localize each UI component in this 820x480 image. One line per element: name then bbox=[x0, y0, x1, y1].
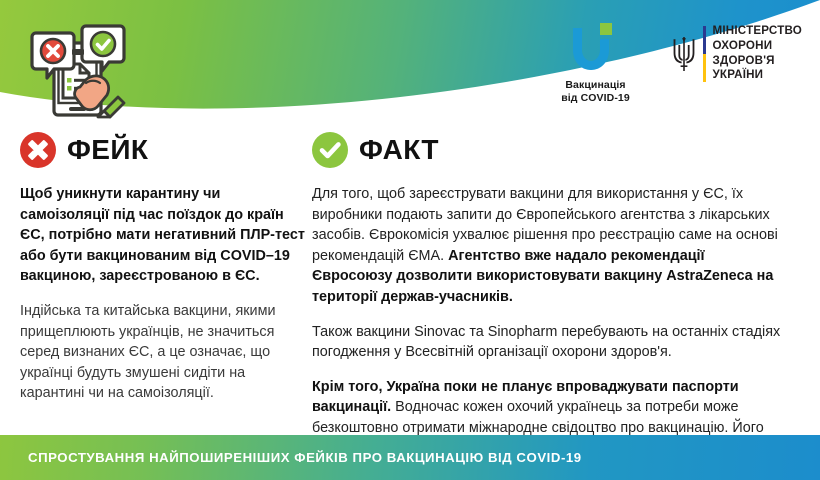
fact-paragraph-2: Також вакцини Sinovac та Sinopharm переб… bbox=[312, 322, 787, 363]
cross-circle-icon bbox=[20, 132, 56, 168]
v-checkmark-logo bbox=[564, 22, 628, 74]
fake-column: ФЕЙК Щоб уникнути карантину чи самоізоля… bbox=[0, 130, 305, 480]
ministry-line-2: ОХОРОНИ bbox=[713, 39, 802, 54]
vaccination-caption-line1: Вакцинація bbox=[561, 79, 630, 92]
ministry-line-4: УКРАЇНИ bbox=[713, 68, 802, 83]
footer-text: СПРОСТУВАННЯ НАЙПОШИРЕНІШИХ ФЕЙКІВ ПРО В… bbox=[0, 450, 582, 465]
fact-heading: ФАКТ bbox=[312, 130, 787, 170]
content-columns: ФЕЙК Щоб уникнути карантину чи самоізоля… bbox=[0, 130, 820, 480]
fake-title: ФЕЙК bbox=[67, 136, 148, 164]
logo-group: Вакцинація від COVID-19 bbox=[542, 22, 802, 105]
logo-divider-bar bbox=[703, 26, 706, 82]
fact-title: ФАКТ bbox=[359, 136, 439, 164]
fake-light-paragraph: Індійська та китайська вакцини, якими пр… bbox=[20, 301, 305, 404]
fact-paragraph-1: Для того, щоб зареєструвати вакцини для … bbox=[312, 184, 787, 308]
ministry-line-3: ЗДОРОВ'Я bbox=[713, 54, 802, 69]
fact-column: ФАКТ Для того, щоб зареєструвати вакцини… bbox=[305, 130, 805, 480]
check-circle-icon bbox=[312, 132, 348, 168]
vaccination-caption-line2: від COVID-19 bbox=[561, 92, 630, 105]
infographic-page: Вакцинація від COVID-19 bbox=[0, 0, 820, 480]
document-review-illustration bbox=[14, 16, 144, 126]
vaccination-logo-caption: Вакцинація від COVID-19 bbox=[561, 79, 630, 105]
fake-bold-paragraph: Щоб уникнути карантину чи самоізоляції п… bbox=[20, 184, 305, 287]
ministry-line-1: МІНІСТЕРСТВО bbox=[713, 24, 802, 39]
ministry-logo-text: МІНІСТЕРСТВО ОХОРОНИ ЗДОРОВ'Я УКРАЇНИ bbox=[713, 24, 802, 83]
footer-banner: СПРОСТУВАННЯ НАЙПОШИРЕНІШИХ ФЕЙКІВ ПРО В… bbox=[0, 435, 820, 480]
ministry-of-health-logo: МІНІСТЕРСТВО ОХОРОНИ ЗДОРОВ'Я УКРАЇНИ bbox=[672, 22, 802, 83]
fake-heading: ФЕЙК bbox=[20, 130, 305, 170]
ukraine-trident-icon bbox=[672, 37, 696, 71]
vaccination-logo: Вакцинація від COVID-19 bbox=[542, 22, 650, 105]
